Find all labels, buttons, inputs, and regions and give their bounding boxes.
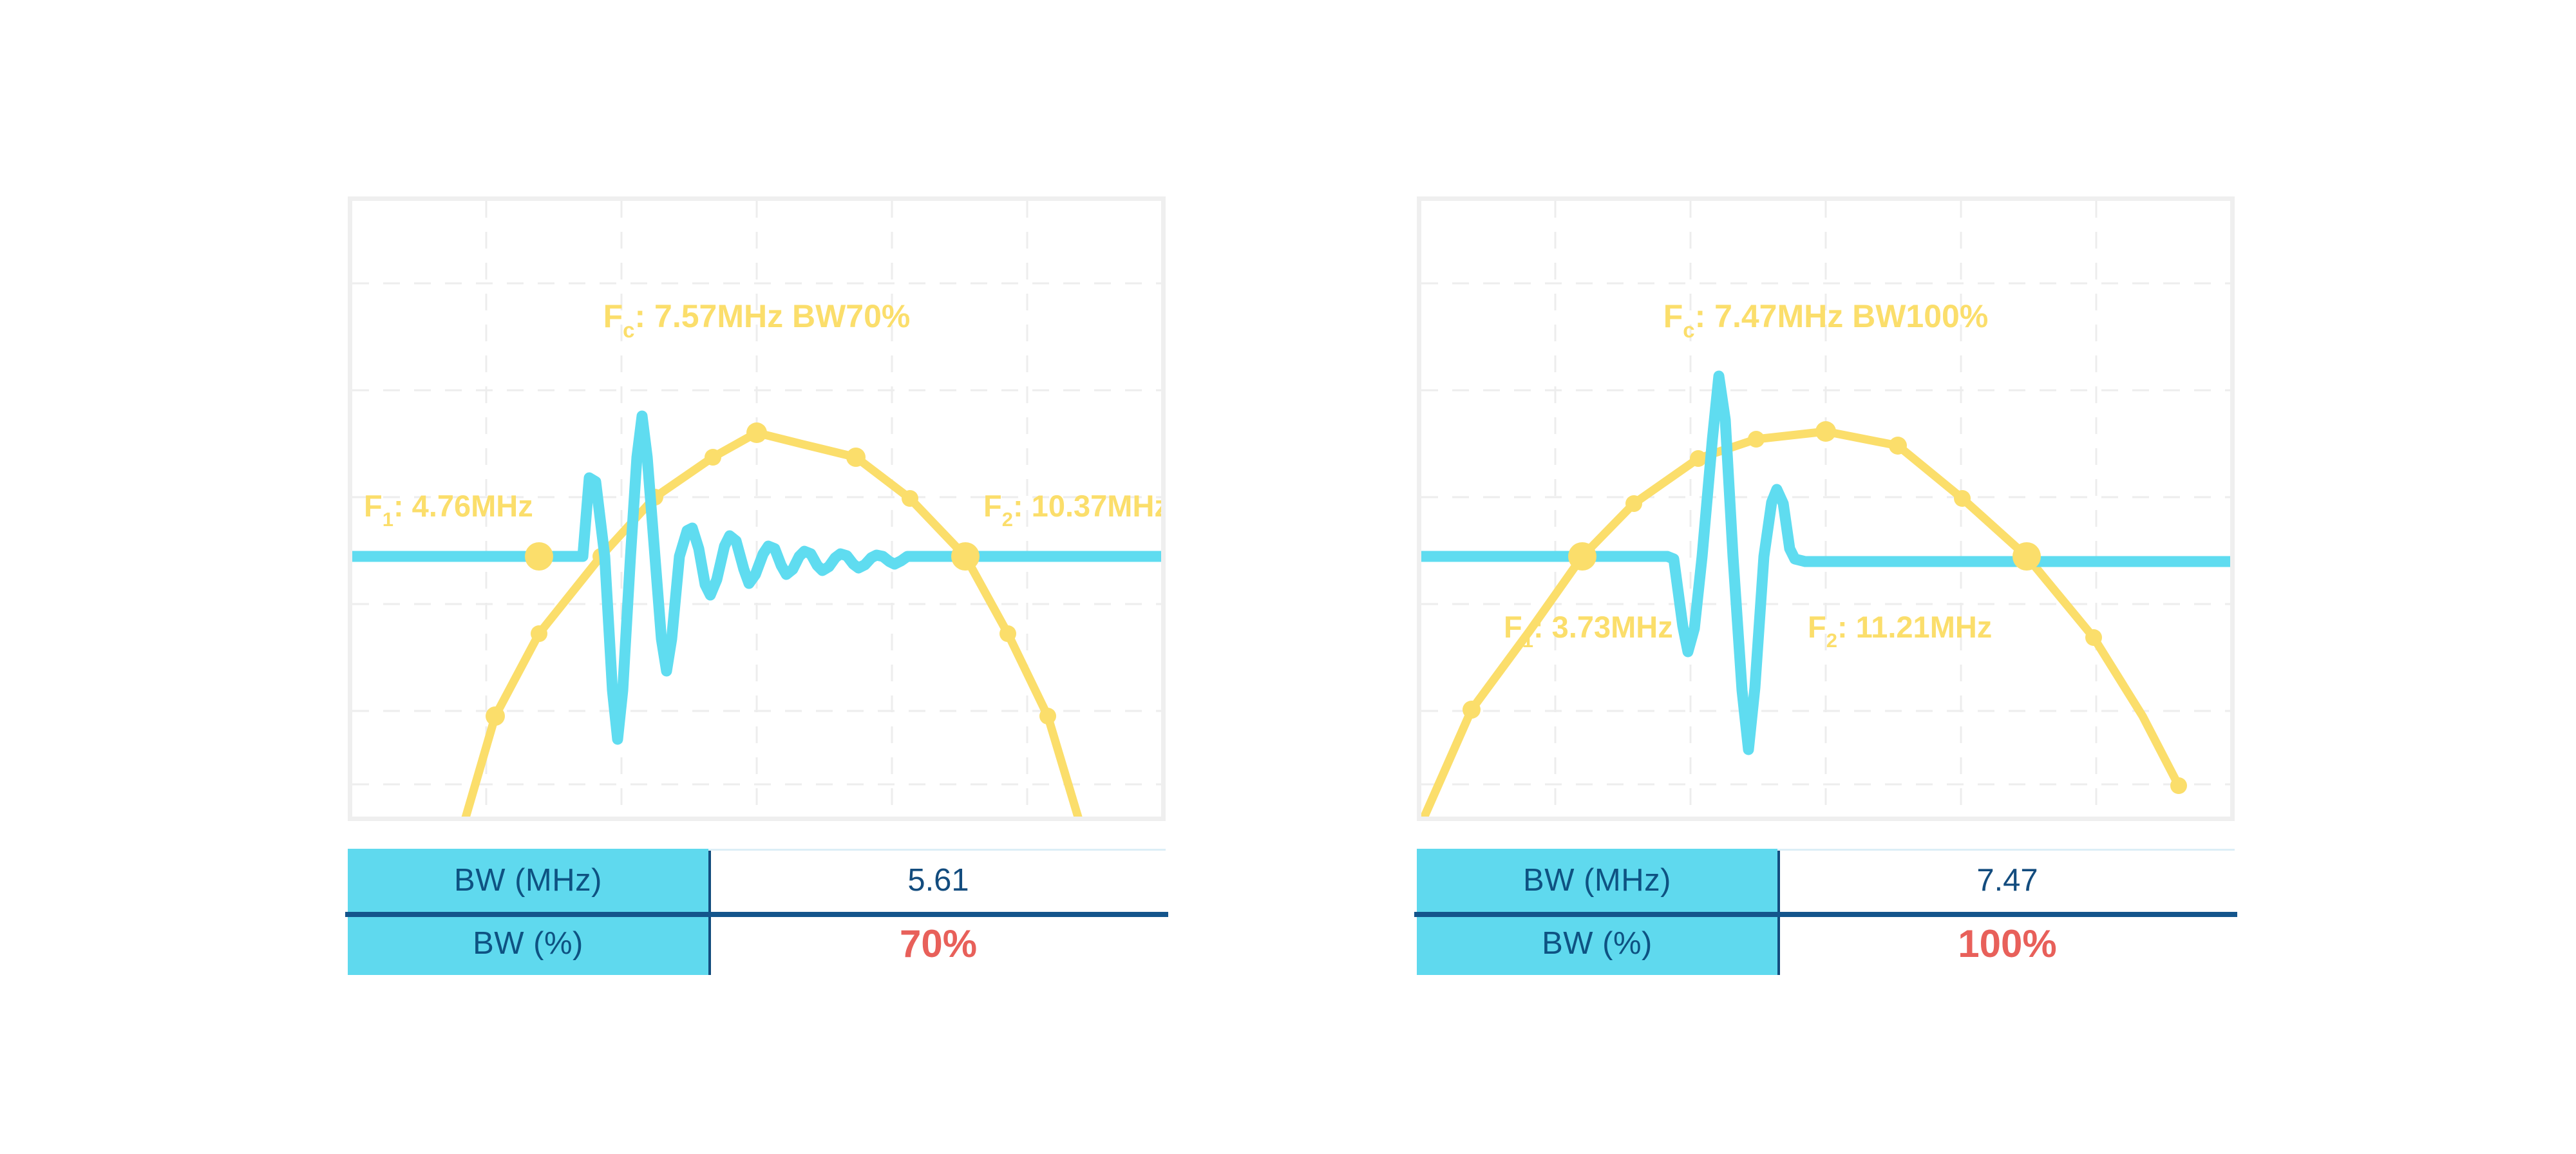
fc-text-left: : 7.57MHz BW70%	[635, 298, 911, 334]
table-value-bw-pct-left: 70%	[708, 912, 1166, 975]
f2-prefix-right: F	[1808, 610, 1826, 644]
f1-marker-icon	[525, 542, 553, 571]
table-key-bw-pct-right: BW (%)	[1417, 912, 1777, 975]
table-key-bw-pct-left: BW (%)	[348, 912, 708, 975]
f2-marker-icon	[951, 542, 980, 571]
annotation-f1-right: F1: 3.73MHz	[1504, 610, 1673, 652]
grid-lines-right	[1421, 201, 2230, 817]
f2-text-right: : 11.21MHz	[1837, 610, 1992, 644]
plot-frame-left: Fc: 7.57MHz BW70% F1: 4.76MHz F2: 10.37M…	[348, 196, 1166, 821]
panel-broadband: Fc: 7.47MHz BW100% F1: 3.73MHz F2: 11.21…	[1352, 0, 2434, 1154]
f2-subscript-left: 2	[1002, 508, 1013, 531]
fc-prefix-right: F	[1663, 298, 1683, 334]
f2-text-left: : 10.37MHz	[1013, 489, 1161, 523]
panel-narrowband: Fc: 7.57MHz BW70% F1: 4.76MHz F2: 10.37M…	[283, 0, 1365, 1154]
table-divider-rule-left	[345, 912, 1168, 917]
fc-subscript-right: c	[1683, 318, 1694, 342]
f1-marker-icon	[1568, 542, 1596, 571]
plot-area-left: Fc: 7.57MHz BW70% F1: 4.76MHz F2: 10.37M…	[352, 201, 1161, 817]
table-value-bw-mhz-right: 7.47	[1777, 849, 2235, 912]
table-row: BW (%) 70%	[348, 912, 1166, 975]
table-key-bw-mhz-left: BW (MHz)	[348, 849, 708, 912]
table-top-rule-right	[1777, 849, 2235, 851]
spectrum-chart-left: Fc: 7.57MHz BW70% F1: 4.76MHz F2: 10.37M…	[352, 201, 1161, 817]
table-key-bw-mhz-right: BW (MHz)	[1417, 849, 1777, 912]
bandwidth-table-left: BW (MHz) 5.61 BW (%) 70%	[348, 849, 1166, 975]
f2-prefix-left: F	[983, 489, 1002, 523]
f1-subscript-left: 1	[383, 508, 393, 531]
fc-prefix-left: F	[603, 298, 623, 334]
annotation-f2-left: F2: 10.37MHz	[983, 489, 1161, 531]
table-row: BW (MHz) 7.47	[1417, 849, 2235, 912]
spectrum-chart-right: Fc: 7.47MHz BW100% F1: 3.73MHz F2: 11.21…	[1421, 201, 2230, 817]
plot-area-right: Fc: 7.47MHz BW100% F1: 3.73MHz F2: 11.21…	[1421, 201, 2230, 817]
table-divider-rule-right	[1414, 912, 2237, 917]
table-value-bw-pct-right: 100%	[1777, 912, 2235, 975]
figure-root: Fc: 7.57MHz BW70% F1: 4.76MHz F2: 10.37M…	[0, 0, 2576, 1154]
f1-text-left: : 4.76MHz	[393, 489, 533, 523]
fc-text-right: : 7.47MHz BW100%	[1695, 298, 1989, 334]
f1-text-right: : 3.73MHz	[1533, 610, 1673, 644]
annotation-f1-left: F1: 4.76MHz	[364, 489, 533, 531]
f2-subscript-right: 2	[1826, 629, 1837, 652]
f1-prefix-left: F	[364, 489, 383, 523]
table-row: BW (MHz) 5.61	[348, 849, 1166, 912]
table-top-rule-left	[708, 849, 1166, 851]
f1-prefix-right: F	[1504, 610, 1522, 644]
f1-subscript-right: 1	[1522, 629, 1533, 652]
bandwidth-table-right: BW (MHz) 7.47 BW (%) 100%	[1417, 849, 2235, 975]
annotation-f2-right: F2: 11.21MHz	[1808, 610, 1992, 652]
table-value-bw-mhz-left: 5.61	[708, 849, 1166, 912]
table-row: BW (%) 100%	[1417, 912, 2235, 975]
plot-frame-right: Fc: 7.47MHz BW100% F1: 3.73MHz F2: 11.21…	[1417, 196, 2235, 821]
f2-marker-icon	[2012, 542, 2041, 571]
fc-subscript-left: c	[623, 318, 634, 342]
